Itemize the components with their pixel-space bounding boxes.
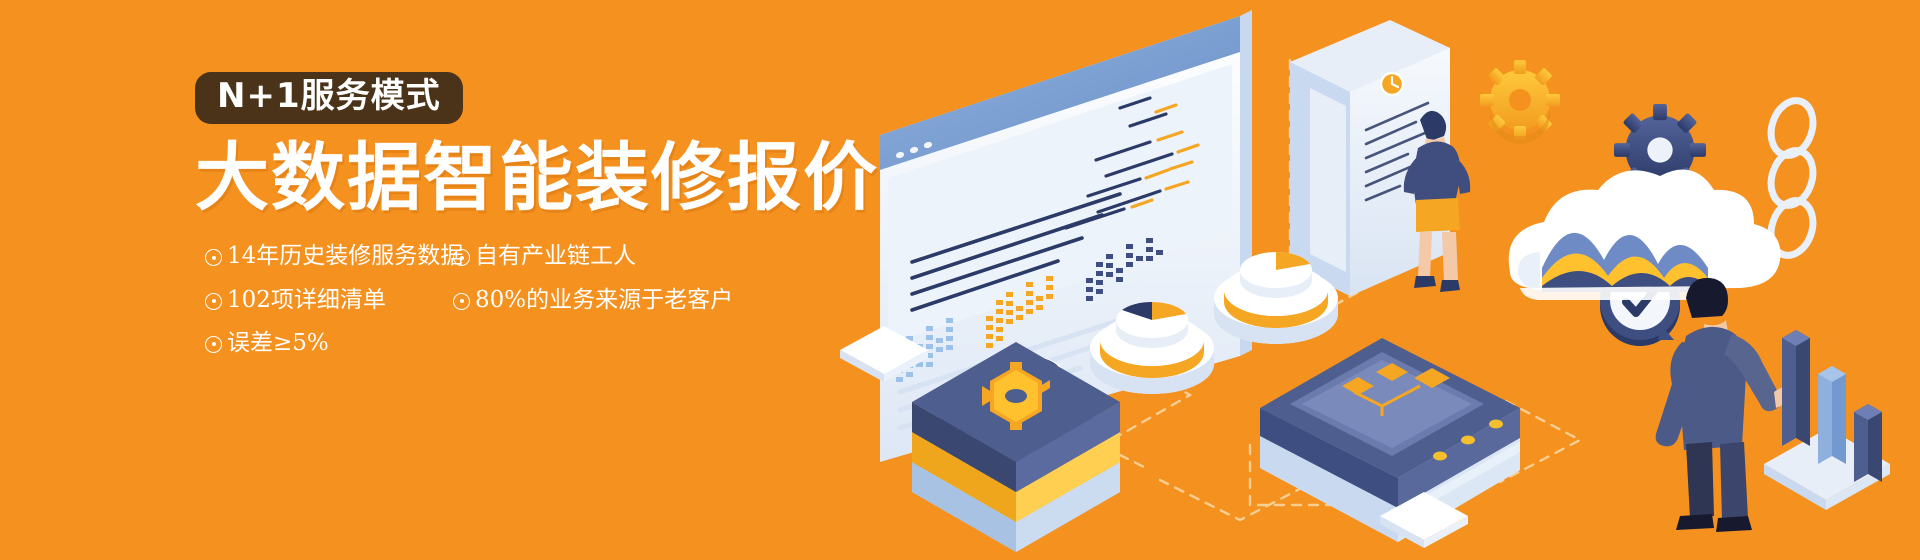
list-item-label: 误差≥5% xyxy=(227,330,329,356)
promo-banner: N+1服务模式 大数据智能装修报价 14年历史装修服务数据 102项详细清单 误… xyxy=(0,0,1920,560)
gear-icon-orange xyxy=(1480,60,1560,144)
cloud-data-graphic xyxy=(1509,170,1781,300)
circled-dot-icon xyxy=(453,249,470,266)
list-item: 14年历史装修服务数据 xyxy=(205,243,455,269)
list-item-label: 14年历史装修服务数据 xyxy=(227,243,463,269)
headline-text-block: N+1服务模式 大数据智能装修报价 14年历史装修服务数据 102项详细清单 误… xyxy=(195,72,915,372)
service-mode-badge: N+1服务模式 xyxy=(195,72,463,124)
isometric-big-data-illustration xyxy=(820,0,1920,560)
circled-dot-icon xyxy=(205,249,222,266)
list-item: 102项详细清单 xyxy=(205,287,455,313)
list-item: 80%的业务来源于老客户 xyxy=(453,287,783,313)
page-title: 大数据智能装修报价 xyxy=(195,140,915,218)
list-item-label: 102项详细清单 xyxy=(227,287,386,313)
bar-chart-columns xyxy=(1764,330,1890,510)
feature-column-left: 14年历史装修服务数据 102项详细清单 误差≥5% xyxy=(205,243,455,373)
circled-dot-icon xyxy=(205,293,222,310)
feature-column-right: 自有产业链工人 80%的业务来源于老客户 xyxy=(453,243,783,330)
circled-dot-icon xyxy=(205,336,222,353)
circled-dot-icon xyxy=(453,293,470,310)
list-item-label: 80%的业务来源于老客户 xyxy=(475,287,733,313)
list-item: 自有产业链工人 xyxy=(453,243,783,269)
list-item-label: 自有产业链工人 xyxy=(475,243,636,269)
list-item: 误差≥5% xyxy=(205,330,455,356)
